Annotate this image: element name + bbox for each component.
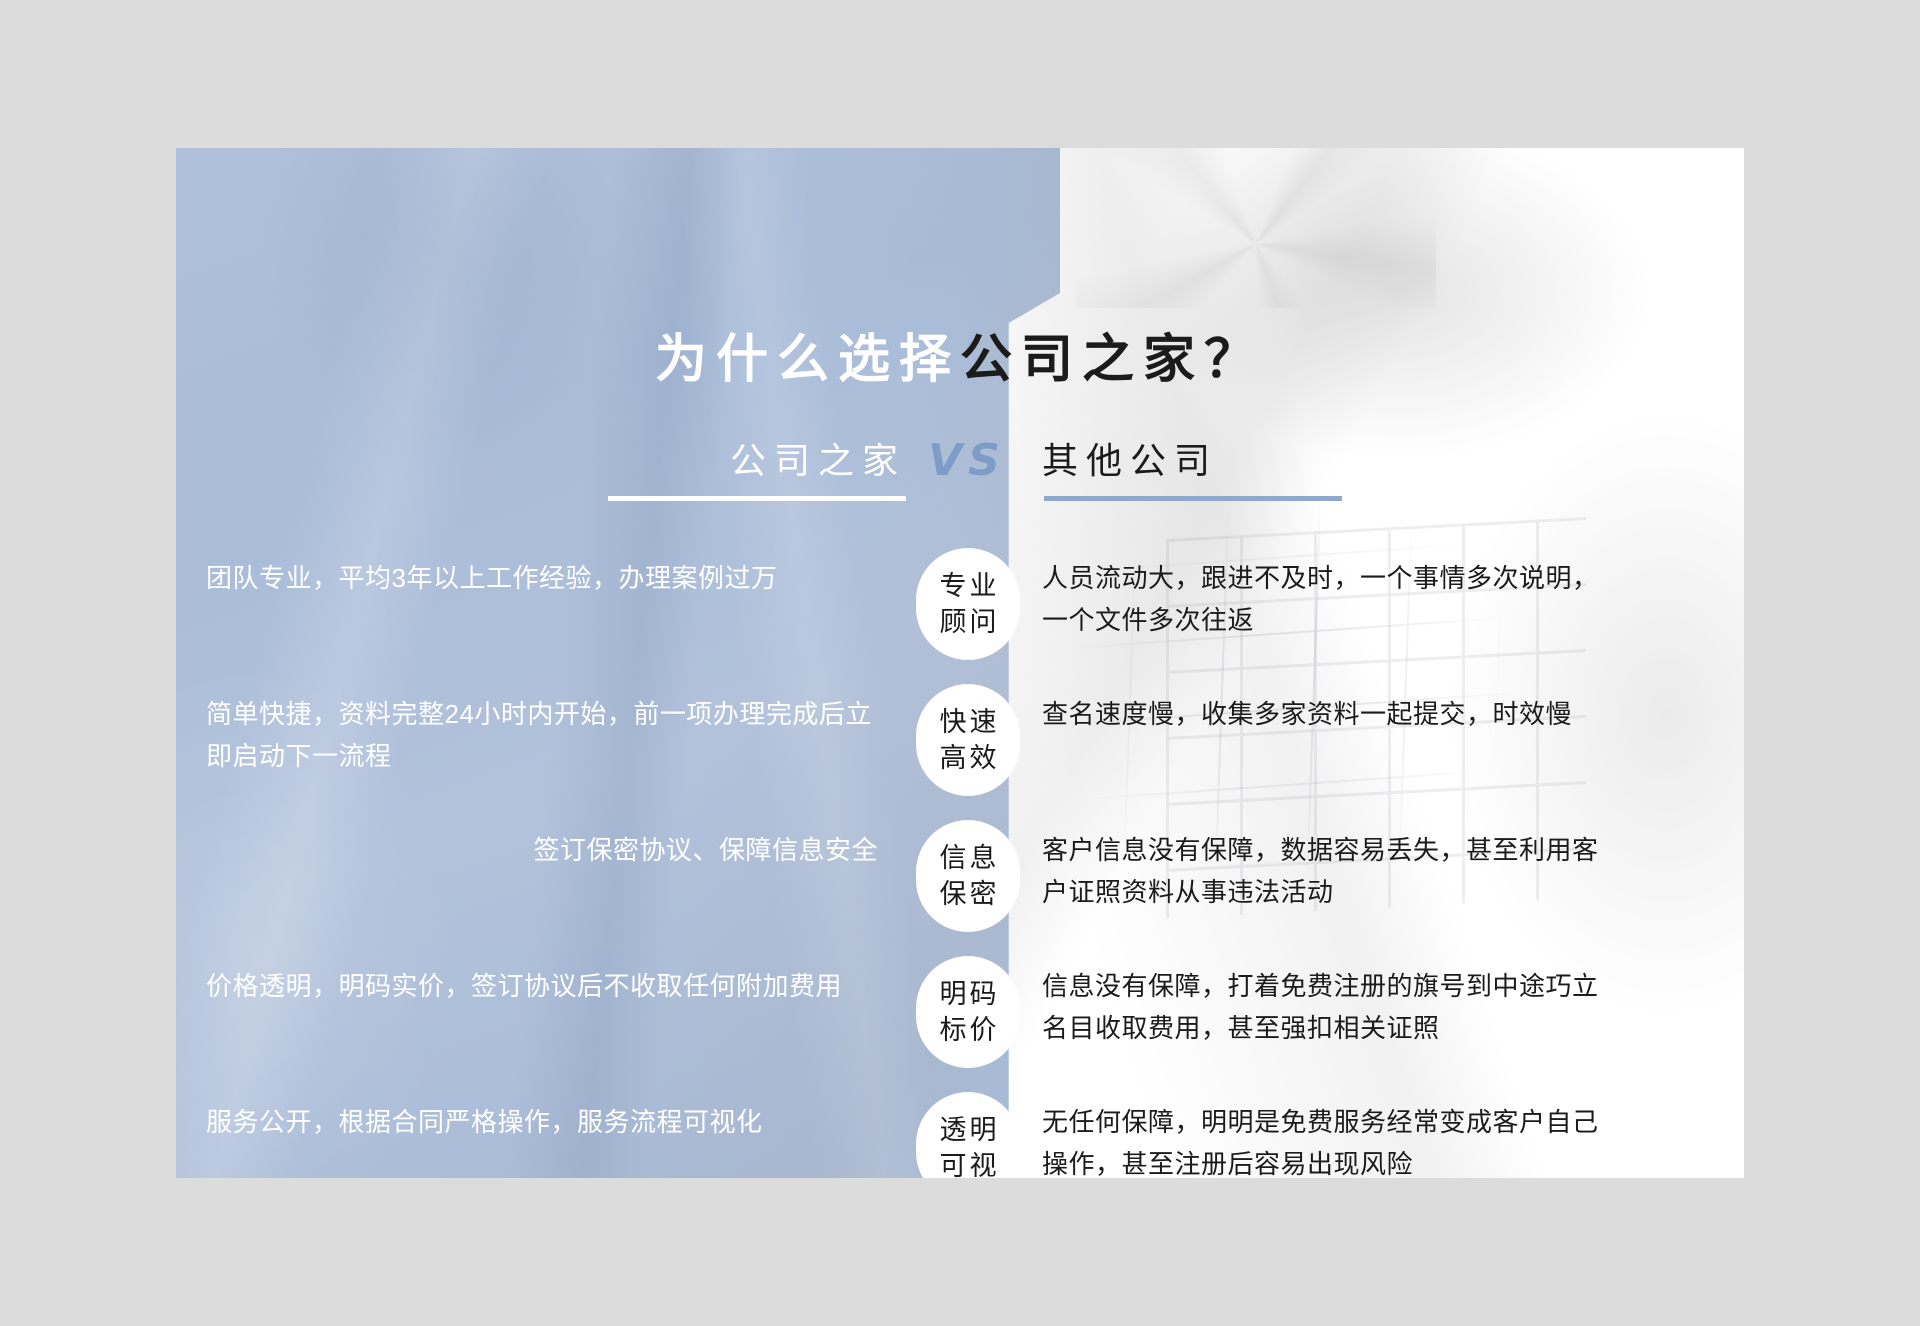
row-left-text: 团队专业，平均3年以上工作经验，办理案例过万: [206, 557, 878, 599]
row-right-text: 无任何保障，明明是免费服务经常变成客户自己操作，甚至注册后容易出现风险: [1042, 1101, 1622, 1178]
row-category-badge: 透明 可视: [916, 1092, 1020, 1178]
comparison-row: 简单快捷，资料完整24小时内开始，前一项办理完成后立即启动下一流程 快速 高效 …: [176, 676, 1744, 812]
emblem-watermark-icon: [1076, 148, 1436, 308]
badge-line-1: 快速: [937, 704, 1000, 740]
badge-line-1: 透明: [937, 1112, 1000, 1148]
comparison-row: 签订保密协议、保障信息安全 信息 保密 客户信息没有保障，数据容易丢失，甚至利用…: [176, 812, 1744, 948]
page-title: 为什么选择公司之家？: [176, 334, 1744, 386]
row-left-text: 签订保密协议、保障信息安全: [206, 829, 878, 871]
vs-badge: VS: [914, 434, 1020, 488]
badge-line-2: 标价: [937, 1012, 1000, 1048]
comparison-row: 服务公开，根据合同严格操作，服务流程可视化 透明 可视 无任何保障，明明是免费服…: [176, 1084, 1744, 1178]
row-left-text: 价格透明，明码实价，签订协议后不收取任何附加费用: [206, 965, 878, 1007]
brand-left-underline: [608, 496, 906, 501]
row-category-badge: 明码 标价: [916, 956, 1020, 1068]
badge-line-2: 顾问: [937, 604, 1000, 640]
badge-line-1: 明码: [937, 976, 1000, 1012]
row-right-text: 查名速度慢，收集多家资料一起提交，时效慢: [1042, 693, 1622, 735]
brand-right-label: 其他公司: [1042, 434, 1372, 488]
badge-line-1: 专业: [937, 568, 1000, 604]
title-brand: 公司之家？: [960, 331, 1265, 389]
brand-left-label: 公司之家: [606, 434, 906, 488]
row-right-text: 人员流动大，跟进不及时，一个事情多次说明，一个文件多次往返: [1042, 557, 1622, 641]
row-category-badge: 专业 顾问: [916, 548, 1020, 660]
row-left-text: 服务公开，根据合同严格操作，服务流程可视化: [206, 1101, 878, 1143]
versus-header: 公司之家 VS 其他公司: [176, 434, 1744, 520]
badge-line-2: 保密: [937, 876, 1000, 912]
row-left-text: 简单快捷，资料完整24小时内开始，前一项办理完成后立即启动下一流程: [206, 693, 878, 777]
badge-line-2: 高效: [937, 740, 1000, 776]
row-category-badge: 快速 高效: [916, 684, 1020, 796]
title-highlight: 为什么选择: [655, 331, 960, 389]
brand-right-underline: [1044, 496, 1342, 501]
comparison-card: 为什么选择公司之家？ 公司之家 VS 其他公司 团队专业，平均3年以上工作经验，…: [176, 148, 1744, 1178]
row-right-text: 信息没有保障，打着免费注册的旗号到中途巧立名目收取费用，甚至强扣相关证照: [1042, 965, 1622, 1049]
comparison-rows: 团队专业，平均3年以上工作经验，办理案例过万 专业 顾问 人员流动大，跟进不及时…: [176, 540, 1744, 1178]
badge-line-1: 信息: [937, 840, 1000, 876]
row-right-text: 客户信息没有保障，数据容易丢失，甚至利用客户证照资料从事违法活动: [1042, 829, 1622, 913]
badge-line-2: 可视: [937, 1148, 1000, 1178]
row-category-badge: 信息 保密: [916, 820, 1020, 932]
comparison-row: 团队专业，平均3年以上工作经验，办理案例过万 专业 顾问 人员流动大，跟进不及时…: [176, 540, 1744, 676]
comparison-row: 价格透明，明码实价，签订协议后不收取任何附加费用 明码 标价 信息没有保障，打着…: [176, 948, 1744, 1084]
